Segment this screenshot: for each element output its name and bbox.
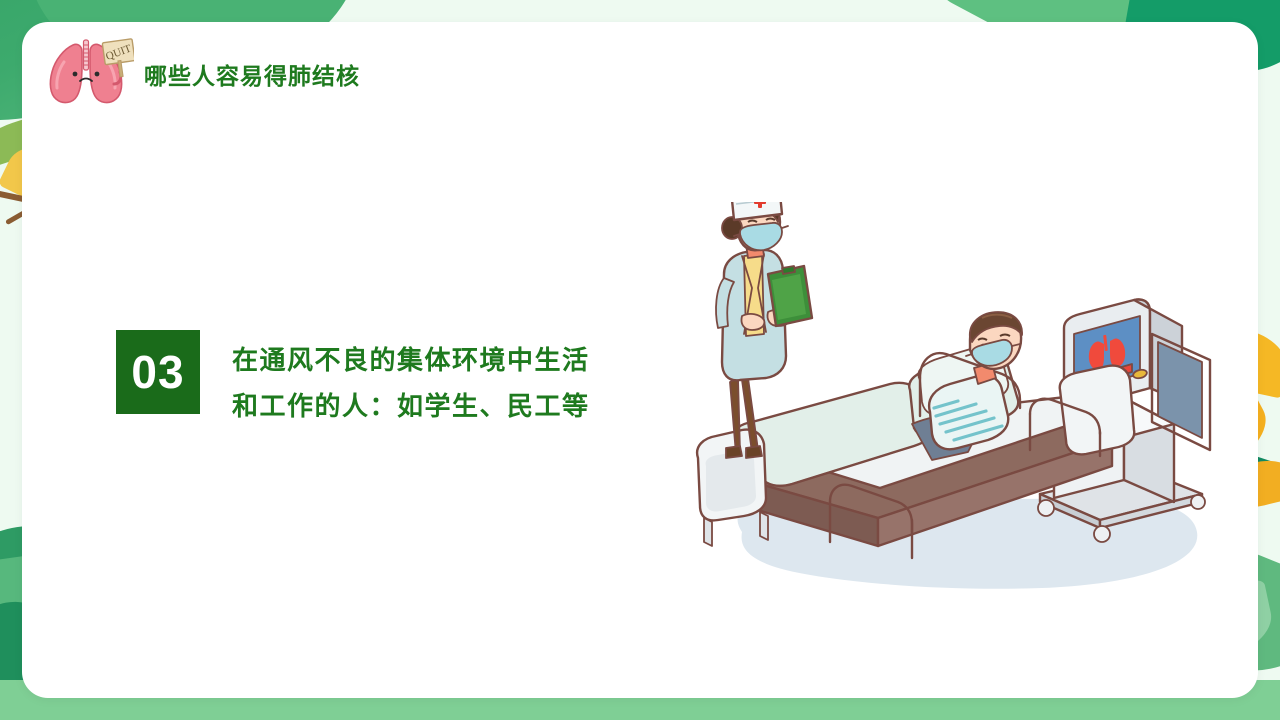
content-card: QUIT 哪些人容易得肺结核 03 在通风不良的集体环境中生活 和工作的人：如学… bbox=[22, 22, 1258, 698]
description-text: 在通风不良的集体环境中生活 和工作的人：如学生、民工等 bbox=[232, 330, 590, 429]
slide-root: QUIT 哪些人容易得肺结核 03 在通风不良的集体环境中生活 和工作的人：如学… bbox=[0, 0, 1280, 720]
page-title: 哪些人容易得肺结核 bbox=[144, 57, 360, 91]
step-number-badge: 03 bbox=[116, 330, 200, 414]
lungs-mascot-icon: QUIT bbox=[42, 36, 134, 112]
description-line-2: 和工作的人：如学生、民工等 bbox=[232, 384, 590, 430]
slide-header: QUIT 哪些人容易得肺结核 bbox=[42, 36, 360, 112]
description-line-1: 在通风不良的集体环境中生活 bbox=[232, 338, 590, 384]
content-block: 03 在通风不良的集体环境中生活 和工作的人：如学生、民工等 bbox=[116, 330, 590, 429]
hospital-ward-illustration: .ol { stroke:#7a4a42; stroke-width:2.4; … bbox=[682, 202, 1222, 612]
